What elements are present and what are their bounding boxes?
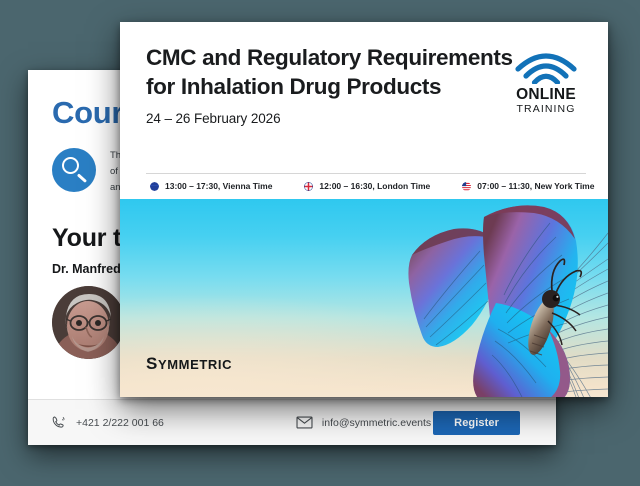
flag-uk-circle [304,182,313,191]
timezone-newyork-text: 07:00 – 11:30, New York Time [477,181,594,191]
hero-butterfly-image: SYMMETRIC [120,199,608,397]
envelope-icon [296,415,313,430]
trainer-portrait-art [52,286,125,359]
logo-line-training: TRAINING [508,103,584,116]
screenshot-stage: Course The of i and Your tr Dr. Manfred … [0,0,640,486]
magnifier-handle [77,173,87,182]
page-title: CMC and Regulatory Requirements for Inha… [146,44,526,102]
symmetric-wordmark: SYMMETRIC [146,354,232,374]
wordmark-rest: YMMETRIC [158,357,232,372]
timezone-vienna: 13:00 – 17:30, Vienna Time [150,181,272,191]
timezone-newyork: 07:00 – 11:30, New York Time [462,181,594,191]
flag-usa-circle [462,182,471,191]
register-button[interactable]: Register [433,411,520,435]
timezone-london: 12:00 – 16:30, London Time [304,181,430,191]
wordmark-capital: S [146,354,158,373]
timezone-vienna-text: 13:00 – 17:30, Vienna Time [165,181,272,191]
front-card-header: CMC and Regulatory Requirements for Inha… [120,22,608,173]
wifi-arcs-icon [514,50,578,84]
footer-email[interactable]: info@symmetric.events [296,415,431,430]
footer-email-text: info@symmetric.events [322,417,431,429]
online-training-logo: ONLINE TRAINING [508,50,584,116]
footer-phone-text: +421 2/222 001 66 [76,417,164,429]
logo-line-online: ONLINE [508,87,584,103]
blue-morpho-butterfly-art [308,199,608,397]
avatar [52,286,125,359]
timezone-bar: 13:00 – 17:30, Vienna Time 12:00 – 16:30… [146,173,586,199]
magnifier-lens [62,157,79,174]
magnifier-icon [52,148,96,192]
timezone-london-text: 12:00 – 16:30, London Time [319,181,430,191]
phone-icon [50,415,67,430]
flag-austria-circle [150,182,159,191]
footer-phone[interactable]: +421 2/222 001 66 [50,415,164,430]
contact-footer-bar: +421 2/222 001 66 info@symmetric.events … [28,399,556,445]
front-slide-card[interactable]: CMC and Regulatory Requirements for Inha… [120,22,608,397]
